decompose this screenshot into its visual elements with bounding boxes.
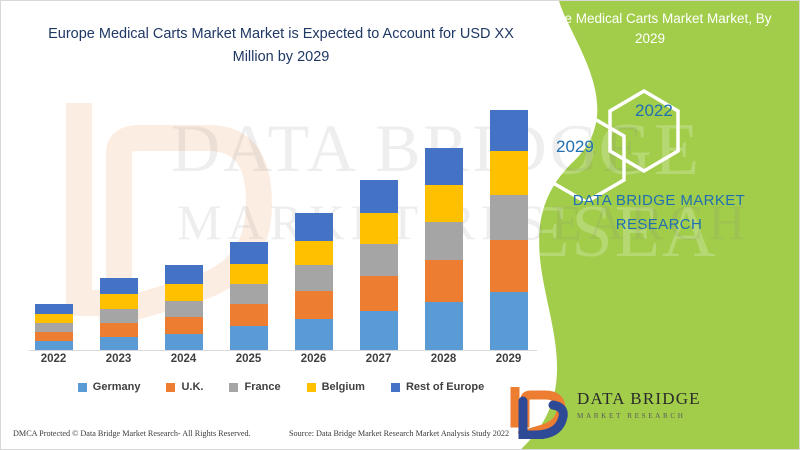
stacked-bar[interactable] [100, 278, 138, 350]
x-axis-label: 2024 [151, 353, 216, 365]
bar-slot [151, 96, 216, 350]
logo-text-block: DATA BRIDGE MARKET RESEARCH [577, 389, 701, 420]
bar-segment-france[interactable] [35, 323, 73, 332]
bar-group [21, 96, 541, 350]
bar-segment-rest-of-europe[interactable] [490, 110, 528, 151]
bar-segment-belgium[interactable] [425, 185, 463, 222]
x-axis-label: 2027 [346, 353, 411, 365]
bar-slot [21, 96, 86, 350]
bar-segment-germany[interactable] [425, 302, 463, 350]
chart-area: Europe Medical Carts Market Market is Ex… [1, 1, 566, 450]
bar-segment-france[interactable] [360, 244, 398, 276]
panel-title: Europe Medical Carts Market Market, By 2… [521, 9, 779, 49]
bar-segment-belgium[interactable] [35, 314, 73, 323]
stacked-bar[interactable] [295, 213, 333, 350]
bar-segment-france[interactable] [100, 309, 138, 323]
x-axis-label: 2026 [281, 353, 346, 365]
hexagon-label-2029: 2029 [556, 137, 594, 157]
bar-segment-belgium[interactable] [490, 151, 528, 195]
bar-segment-u-k[interactable] [490, 240, 528, 292]
legend-item-france[interactable]: France [229, 381, 280, 393]
hexagon-2029-shape [548, 114, 624, 201]
bar-segment-u-k[interactable] [165, 317, 203, 334]
panel-brand-text: DATA BRIDGE MARKET RESEARCH [539, 189, 779, 237]
bar-segment-belgium[interactable] [360, 213, 398, 244]
bar-segment-france[interactable] [165, 301, 203, 317]
slide-root: Europe Medical Carts Market Market is Ex… [0, 0, 800, 450]
bar-segment-germany[interactable] [230, 326, 268, 350]
bar-slot [411, 96, 476, 350]
bar-segment-belgium[interactable] [295, 241, 333, 265]
bar-segment-belgium[interactable] [100, 294, 138, 309]
bar-segment-u-k[interactable] [100, 323, 138, 337]
legend-label: Rest of Europe [406, 381, 484, 393]
footer-source: Source: Data Bridge Market Research Mark… [289, 429, 509, 438]
stacked-bar[interactable] [230, 242, 268, 350]
x-axis-labels: 20222023202420252026202720282029 [21, 353, 541, 365]
bar-slot [281, 96, 346, 350]
legend-swatch-icon [78, 383, 87, 392]
bar-segment-germany[interactable] [295, 319, 333, 350]
bar-segment-germany[interactable] [360, 311, 398, 350]
brand-logo: DATA BRIDGE MARKET RESEARCH [509, 383, 749, 443]
x-axis-label: 2029 [476, 353, 541, 365]
legend-swatch-icon [229, 383, 238, 392]
bar-segment-u-k[interactable] [425, 260, 463, 302]
stacked-bar[interactable] [35, 304, 73, 350]
bar-slot [346, 96, 411, 350]
x-axis-label: 2023 [86, 353, 151, 365]
bar-slot [216, 96, 281, 350]
legend-item-rest-of-europe[interactable]: Rest of Europe [391, 381, 484, 393]
bar-segment-u-k[interactable] [295, 291, 333, 319]
stacked-bar[interactable] [490, 110, 528, 350]
data-bridge-logo-icon [509, 383, 571, 439]
bar-segment-germany[interactable] [35, 341, 73, 350]
logo-subtitle: MARKET RESEARCH [577, 412, 701, 420]
legend-item-u-k[interactable]: U.K. [166, 381, 203, 393]
bar-segment-rest-of-europe[interactable] [35, 304, 73, 314]
bar-segment-france[interactable] [425, 222, 463, 260]
bar-segment-france[interactable] [230, 284, 268, 304]
legend-label: France [244, 381, 280, 393]
page-title: Europe Medical Carts Market Market is Ex… [31, 23, 531, 69]
bar-segment-rest-of-europe[interactable] [295, 213, 333, 241]
bar-segment-rest-of-europe[interactable] [230, 242, 268, 264]
footer: DMCA Protected © Data Bridge Market Rese… [1, 425, 561, 449]
bar-segment-u-k[interactable] [230, 304, 268, 326]
bar-segment-france[interactable] [295, 265, 333, 291]
chart-legend: GermanyU.K.FranceBelgiumRest of Europe [31, 381, 531, 393]
legend-item-germany[interactable]: Germany [78, 381, 141, 393]
legend-label: Germany [93, 381, 141, 393]
plot-area [21, 96, 541, 351]
stacked-bar[interactable] [165, 265, 203, 350]
bar-segment-rest-of-europe[interactable] [360, 180, 398, 213]
legend-label: Belgium [322, 381, 365, 393]
bar-segment-rest-of-europe[interactable] [100, 278, 138, 294]
bar-segment-belgium[interactable] [230, 264, 268, 284]
bar-slot [476, 96, 541, 350]
x-axis-label: 2025 [216, 353, 281, 365]
legend-swatch-icon [307, 383, 316, 392]
bar-segment-germany[interactable] [165, 334, 203, 350]
footer-copyright: DMCA Protected © Data Bridge Market Rese… [13, 429, 251, 438]
bar-segment-rest-of-europe[interactable] [165, 265, 203, 284]
bar-slot [86, 96, 151, 350]
hexagon-label-2022: 2022 [635, 101, 673, 121]
legend-swatch-icon [391, 383, 400, 392]
bar-segment-germany[interactable] [100, 337, 138, 350]
stacked-bar[interactable] [425, 148, 463, 350]
bar-segment-france[interactable] [490, 195, 528, 240]
bar-segment-u-k[interactable] [360, 276, 398, 311]
bar-segment-rest-of-europe[interactable] [425, 148, 463, 185]
x-axis-label: 2022 [21, 353, 86, 365]
bar-segment-u-k[interactable] [35, 332, 73, 341]
legend-label: U.K. [181, 381, 203, 393]
stacked-bar[interactable] [360, 180, 398, 350]
x-axis-label: 2028 [411, 353, 476, 365]
bar-segment-belgium[interactable] [165, 284, 203, 301]
x-axis-line [29, 350, 537, 351]
logo-name: DATA BRIDGE [577, 389, 701, 409]
bar-segment-germany[interactable] [490, 292, 528, 350]
legend-item-belgium[interactable]: Belgium [307, 381, 365, 393]
legend-swatch-icon [166, 383, 175, 392]
